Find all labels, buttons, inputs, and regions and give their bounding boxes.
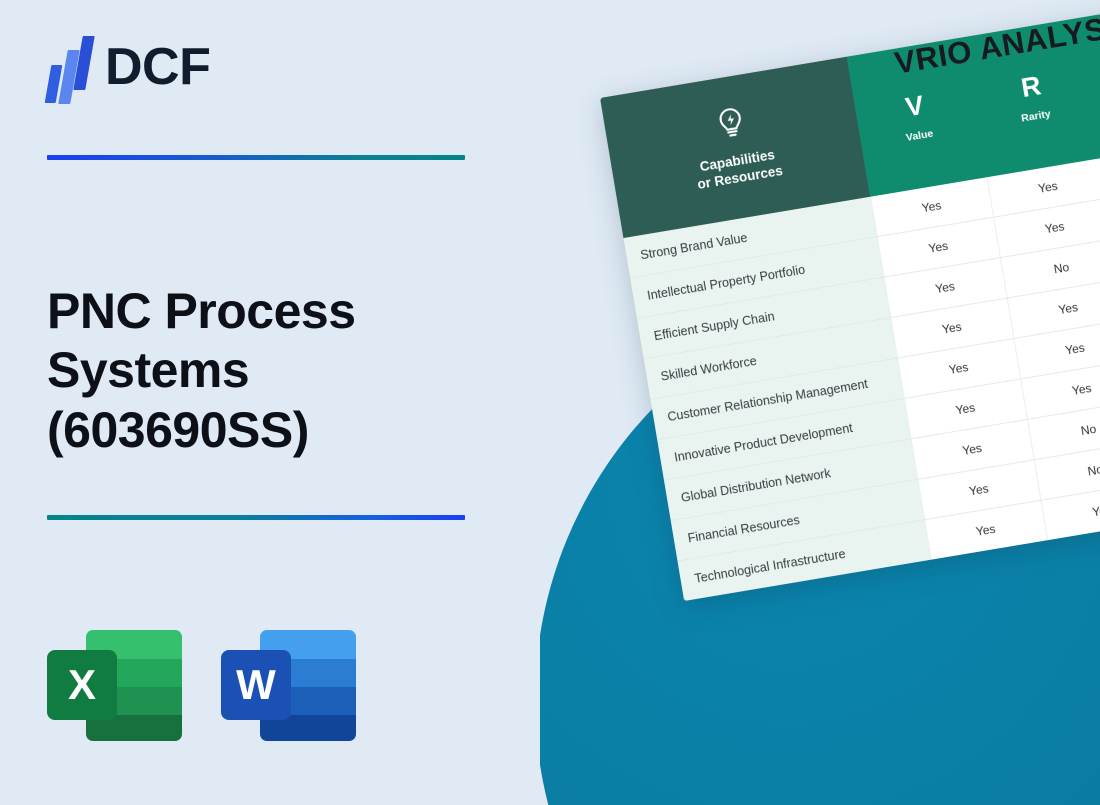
page-title-line-3: (603690SS)	[47, 401, 497, 461]
word-badge-letter: W	[221, 650, 291, 720]
word-file-icon[interactable]: W	[221, 624, 356, 746]
excel-badge-letter: X	[47, 650, 117, 720]
page-title: PNC Process Systems (603690SS)	[47, 282, 497, 461]
poster-canvas: VRIO ANALYSIS	[0, 0, 1100, 805]
divider-bottom	[47, 515, 465, 520]
column-name-value: Value	[866, 122, 972, 150]
column-letter-r: R	[977, 65, 1086, 109]
column-name-rarity: Rarity	[983, 102, 1089, 130]
page-title-line-1: PNC Process	[47, 282, 497, 342]
column-letter-i: I	[1093, 45, 1100, 89]
title-panel: DCF PNC Process Systems (603690SS) X	[0, 0, 540, 805]
logo-wordmark: DCF	[105, 41, 210, 97]
dcf-logo[interactable]: DCF	[47, 33, 210, 105]
divider-top	[47, 155, 465, 160]
vrio-table-container: Capabilities or Resources V Value R Rari…	[600, 0, 1100, 601]
excel-file-icon[interactable]: X	[47, 624, 182, 746]
column-letter-v: V	[860, 84, 969, 128]
bar-chart-logo-mark-icon	[47, 34, 93, 104]
vrio-table: Capabilities or Resources V Value R Rari…	[600, 0, 1100, 601]
download-formats: X W	[47, 624, 356, 746]
page-title-line-2: Systems	[47, 341, 497, 401]
vrio-graphic-panel: VRIO ANALYSIS	[540, 0, 1100, 805]
